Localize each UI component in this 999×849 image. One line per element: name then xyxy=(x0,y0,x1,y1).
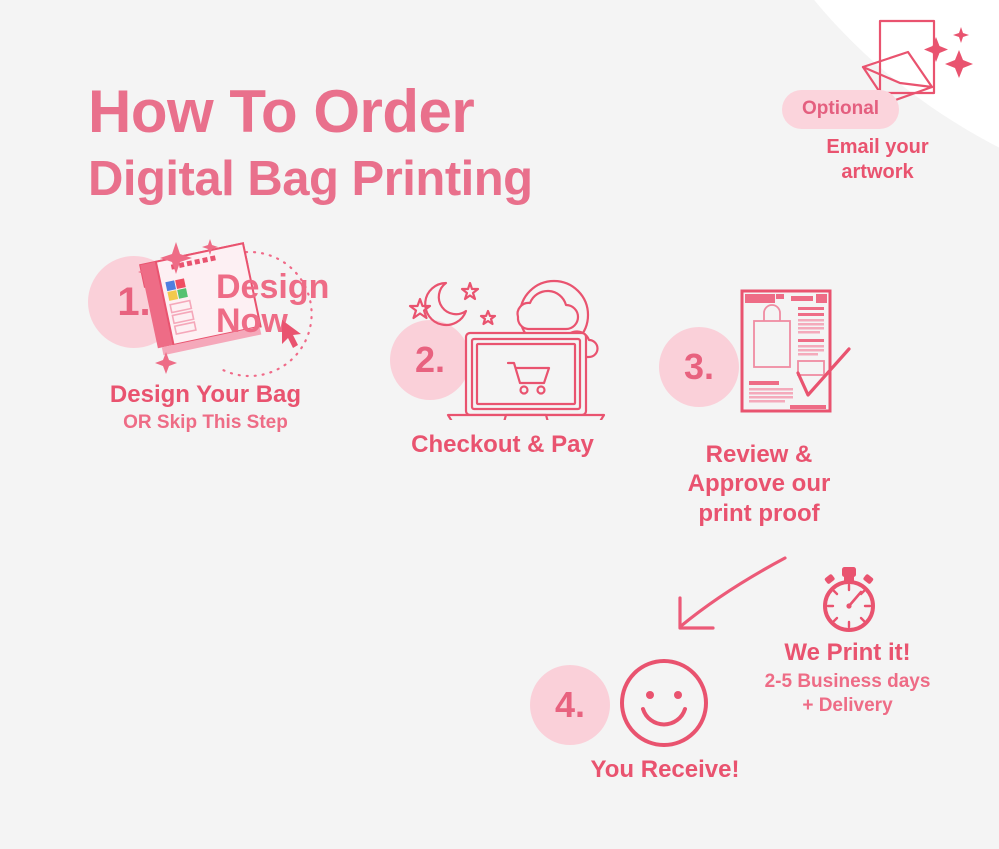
title-line-2: Digital Bag Printing xyxy=(88,155,533,204)
we-print-it-subtitle: 2-5 Business days + Delivery xyxy=(740,670,955,718)
email-artwork-line-2: artwork xyxy=(760,160,995,185)
print-proof-document-icon xyxy=(732,283,857,428)
svg-text:Now: Now xyxy=(216,302,288,340)
laptop-cart-icon xyxy=(408,275,608,425)
step-3-number: 3. xyxy=(659,327,739,407)
step-3-title: Review & Approve our print proof xyxy=(639,440,879,528)
step-1-subtitle: OR Skip This Step xyxy=(68,411,343,435)
email-artwork-label: Email your artwork xyxy=(760,135,995,185)
step-3-title-line-2: Approve our xyxy=(639,469,879,498)
step-3-title-line-1: Review & xyxy=(639,440,879,469)
we-print-it-title: We Print it! xyxy=(740,639,955,667)
step-4-number: 4. xyxy=(530,665,610,745)
optional-badge: Optional xyxy=(782,90,899,129)
step-1-title: Design Your Bag xyxy=(68,380,343,409)
step-3-title-line-3: print proof xyxy=(639,499,879,528)
print-sub-line-2: + Delivery xyxy=(740,694,955,718)
design-now-palette-icon: Design Now xyxy=(128,236,338,391)
title-line-1: How To Order xyxy=(88,82,533,142)
step-2-title: Checkout & Pay xyxy=(385,430,620,459)
curved-arrow-icon xyxy=(655,550,800,650)
infographic-canvas: How To Order Digital Bag Printing Option… xyxy=(0,0,999,849)
svg-text:Design: Design xyxy=(216,268,329,306)
email-artwork-line-1: Email your xyxy=(760,135,995,160)
smiley-face-icon xyxy=(616,655,712,756)
stopwatch-icon xyxy=(813,565,885,640)
page-title: How To Order Digital Bag Printing xyxy=(88,82,533,204)
print-sub-line-1: 2-5 Business days xyxy=(740,670,955,694)
step-4-title: You Receive! xyxy=(550,755,780,784)
